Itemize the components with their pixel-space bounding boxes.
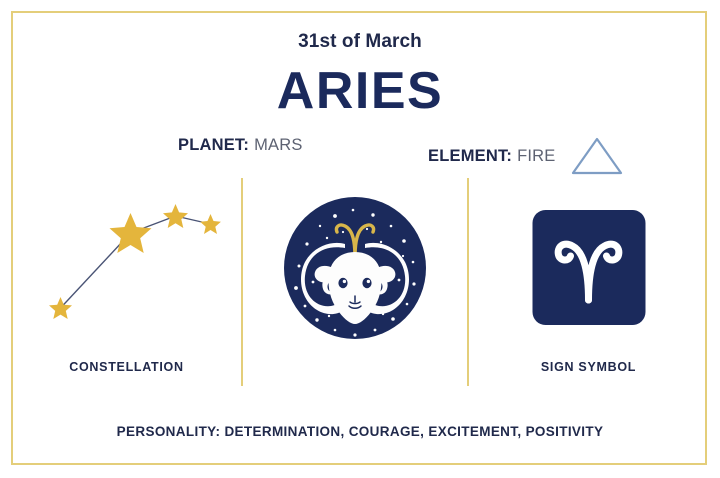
panel-constellation: CONSTELLATION — [12, 186, 241, 378]
fire-triangle-icon — [570, 136, 624, 176]
planet-label: PLANET: — [178, 136, 249, 155]
aries-ram-circle-icon — [243, 186, 467, 338]
aries-zodiac-card: 31st of March ARIES PLANET: MARS ELEMENT… — [0, 0, 720, 478]
sign-symbol-art — [469, 186, 708, 338]
page-title: ARIES — [0, 62, 720, 120]
attribute-row: PLANET: MARS ELEMENT: FIRE — [0, 136, 720, 166]
panel-sign-symbol: SIGN SYMBOL — [469, 186, 708, 378]
aries-glyph-box — [532, 210, 645, 325]
element-attribute: ELEMENT: FIRE — [428, 136, 624, 176]
element-label: ELEMENT: — [428, 147, 512, 166]
element-value: FIRE — [517, 147, 555, 166]
panel-ram — [243, 186, 467, 378]
planet-attribute: PLANET: MARS — [178, 136, 303, 155]
panel-label-sign-symbol: SIGN SYMBOL — [469, 360, 708, 374]
planet-value: MARS — [254, 136, 302, 155]
personality-line: PERSONALITY: DETERMINATION, COURAGE, EXC… — [0, 424, 720, 439]
date-line: 31st of March — [0, 31, 720, 53]
aries-glyph-icon — [547, 226, 631, 310]
aries-constellation-icon — [12, 186, 241, 338]
panel-label-constellation: CONSTELLATION — [12, 360, 241, 374]
